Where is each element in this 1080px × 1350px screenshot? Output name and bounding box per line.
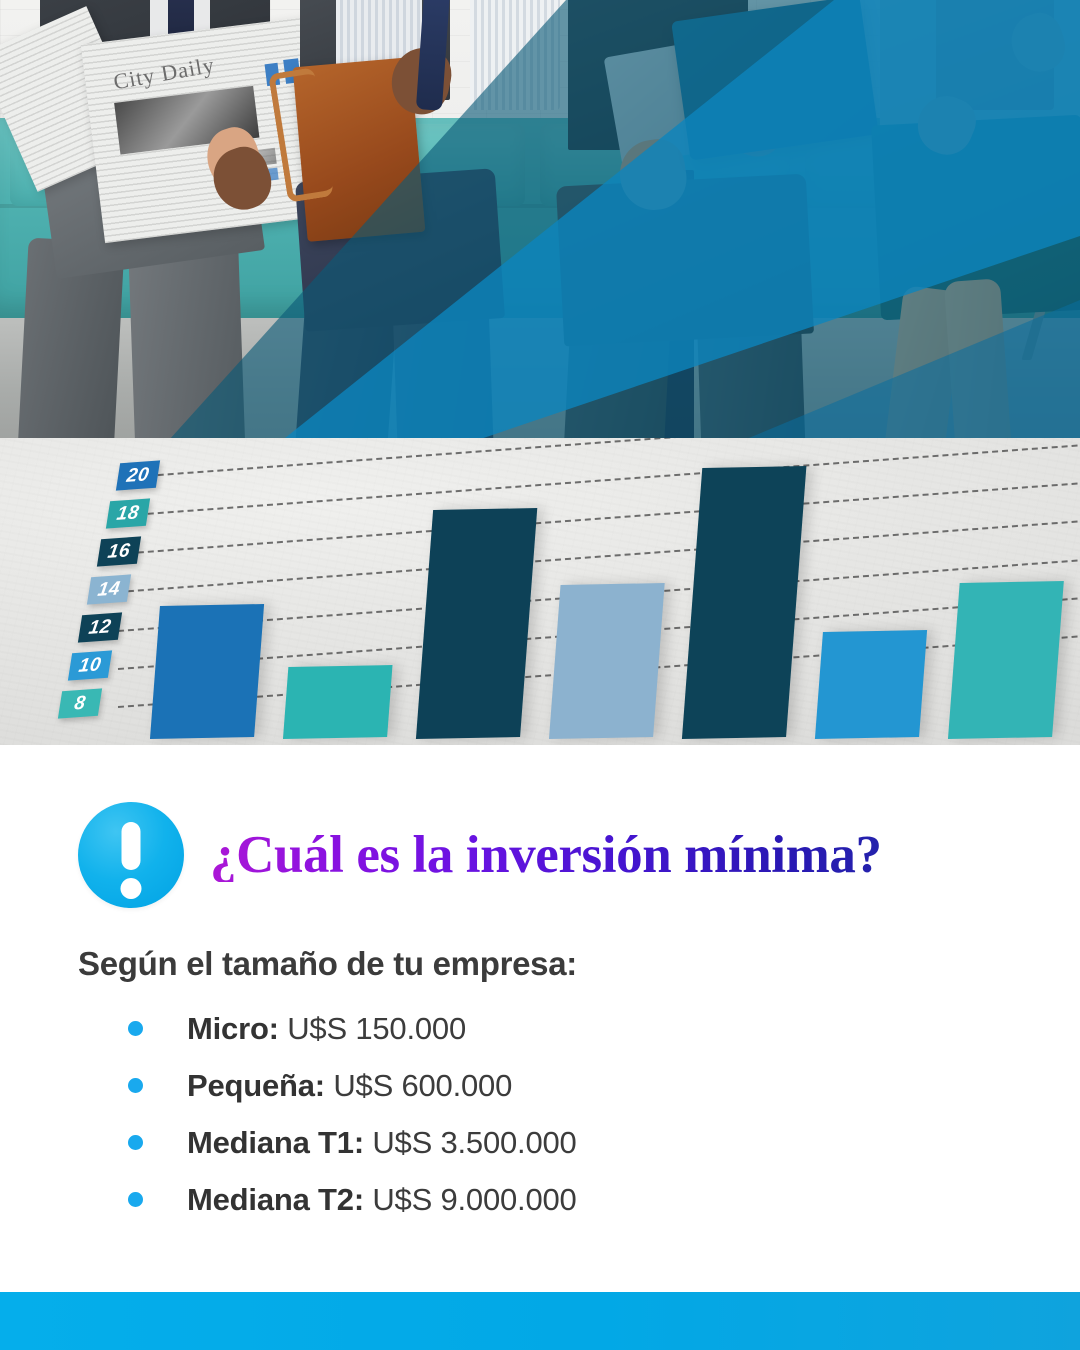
exclamation-stem [122, 822, 141, 870]
bullet-dot [128, 1021, 143, 1036]
investment-list: Micro: U$S 150.000Pequeña: U$S 600.000Me… [128, 1000, 577, 1228]
list-item-text: Micro: U$S 150.000 [187, 1011, 466, 1047]
list-item-text: Mediana T1: U$S 3.500.000 [187, 1125, 577, 1161]
list-item-text: Pequeña: U$S 600.000 [187, 1068, 512, 1104]
y-axis-label: 10 [68, 651, 112, 681]
bullet-dot [128, 1078, 143, 1093]
page-title: ¿Cuál es la inversión mínima? [210, 829, 882, 882]
bar [682, 466, 807, 739]
laptop-lid [671, 0, 879, 161]
bar-chart: 2018161412108 [0, 438, 1080, 745]
trouser-thigh [556, 174, 814, 347]
exclamation-dot [121, 878, 142, 899]
y-axis-label: 16 [97, 536, 141, 566]
bullet-dot [128, 1192, 143, 1207]
list-item: Micro: U$S 150.000 [128, 1000, 577, 1057]
list-item-text: Mediana T2: U$S 9.000.000 [187, 1182, 577, 1218]
bullet-dot [128, 1135, 143, 1150]
list-item: Mediana T1: U$S 3.500.000 [128, 1114, 577, 1171]
y-axis-label: 8 [58, 689, 102, 719]
bar [283, 665, 393, 739]
y-axis-label: 18 [106, 498, 150, 528]
y-axis-label: 14 [87, 574, 131, 604]
bar [815, 630, 927, 739]
bar [948, 581, 1064, 739]
y-axis-label: 20 [116, 460, 160, 490]
bar [549, 583, 665, 739]
subheading: Según el tamaño de tu empresa: [78, 945, 577, 983]
list-item: Mediana T2: U$S 9.000.000 [128, 1171, 577, 1228]
bar [416, 508, 537, 739]
bar [150, 604, 264, 739]
list-item-label: Micro: [187, 1011, 279, 1046]
footer-bar [0, 1292, 1080, 1350]
y-axis-label: 12 [77, 612, 121, 642]
content-panel: ¿Cuál es la inversión mínima? Según el t… [0, 745, 1080, 1292]
dress-shirt [470, 0, 560, 110]
list-item: Pequeña: U$S 600.000 [128, 1057, 577, 1114]
list-item-label: Pequeña: [187, 1068, 325, 1103]
exclamation-circle-icon [78, 802, 184, 908]
list-item-label: Mediana T1: [187, 1125, 364, 1160]
list-item-label: Mediana T2: [187, 1182, 364, 1217]
headline-row: ¿Cuál es la inversión mínima? [78, 802, 882, 908]
